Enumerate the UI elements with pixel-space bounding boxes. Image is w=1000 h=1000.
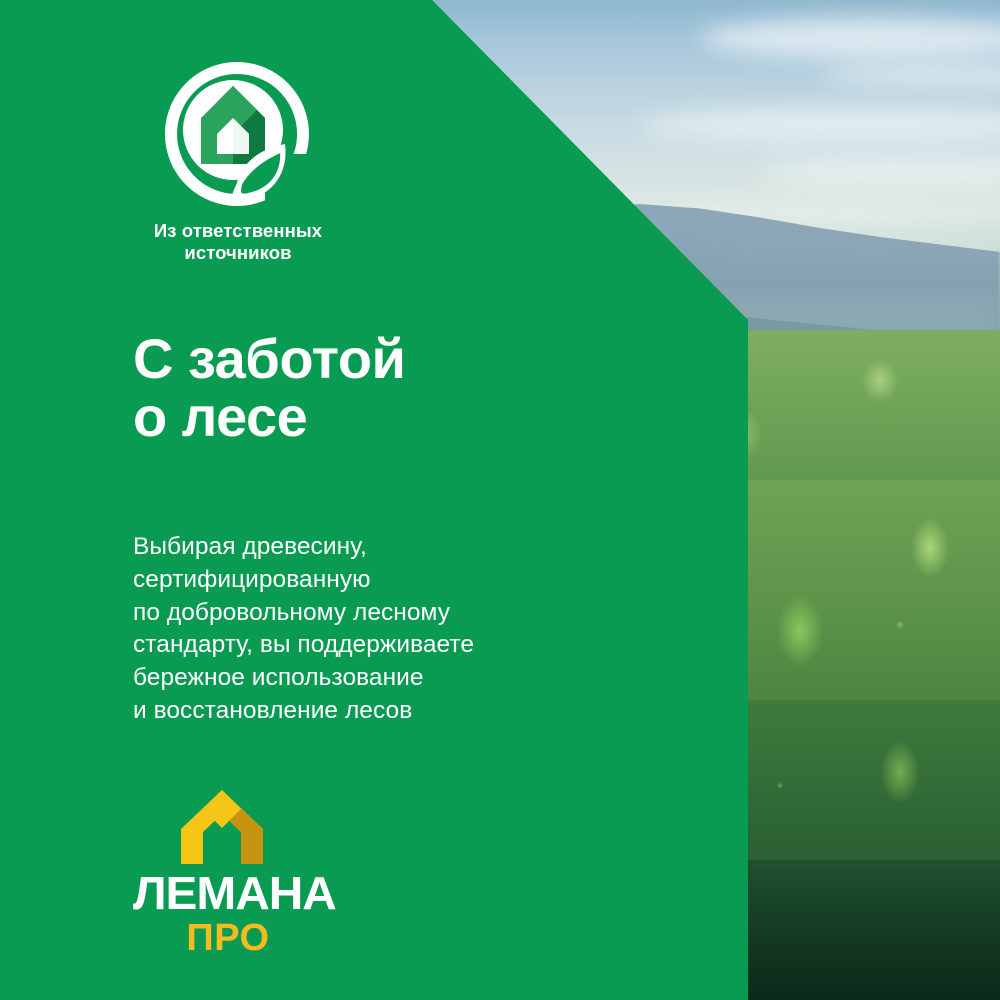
poster-content: Из ответственных источников С заботой о … bbox=[0, 0, 1000, 1000]
house-leaf-circle-icon bbox=[161, 58, 313, 210]
poster-root: Из ответственных источников С заботой о … bbox=[0, 0, 1000, 1000]
certification-badge: Из ответственных источников bbox=[133, 58, 353, 263]
certification-badge-caption: Из ответственных источников bbox=[133, 220, 343, 263]
body-paragraph: Выбирая древесину, сертифицированную по … bbox=[133, 531, 474, 728]
brand-logo: ЛЕМАНА ПРО bbox=[133, 788, 363, 957]
lemana-house-icon bbox=[179, 788, 265, 866]
page-title: С заботой о лесе bbox=[133, 330, 405, 446]
brand-name: ЛЕМАНА bbox=[133, 870, 331, 916]
brand-sub: ПРО bbox=[133, 919, 323, 957]
